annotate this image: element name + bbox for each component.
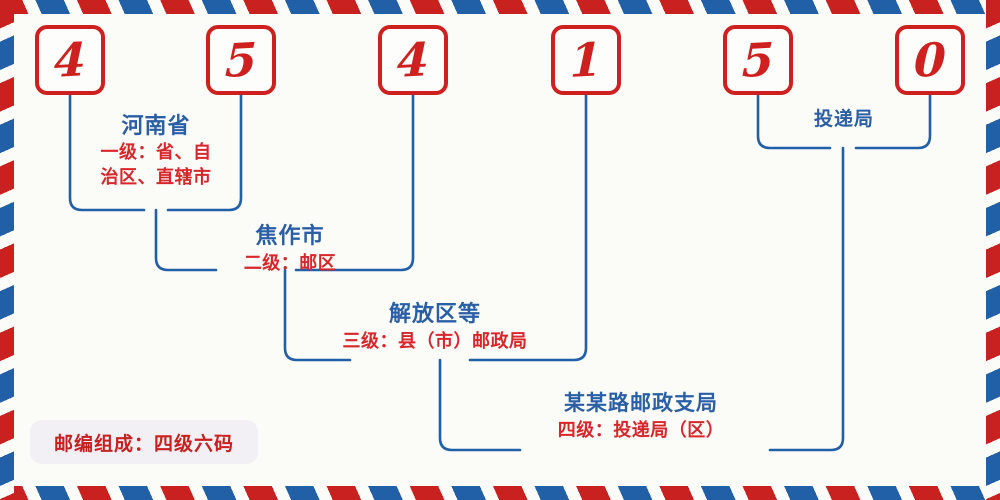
postcode-digit-value-4: 1 bbox=[570, 36, 603, 84]
level-1-label-group: 河南省 一级：省、自 治区、直辖市 bbox=[80, 112, 232, 190]
level-4-title: 某某路邮政支局 bbox=[455, 388, 827, 417]
postcode-diagram-canvas: 4 5 4 1 5 0 投递局 河南省 一级：省、自 治区、直辖市 焦作市 bbox=[0, 0, 1000, 500]
postcode-digit-value-2: 5 bbox=[225, 36, 258, 84]
level-1-title: 河南省 bbox=[80, 112, 232, 140]
postcode-composition-badge-text: 邮编组成：四级六码 bbox=[54, 429, 234, 456]
postcode-digit-value-1: 4 bbox=[54, 36, 87, 84]
level-2-label-group: 焦作市 二级：邮区 bbox=[170, 222, 410, 277]
level-4-subtitle-line-1: 四级：投递局（区） bbox=[455, 417, 827, 444]
postcode-digit-box-2[interactable]: 5 bbox=[206, 25, 276, 95]
postcode-digit-box-4[interactable]: 1 bbox=[551, 25, 621, 95]
postcode-composition-badge: 邮编组成：四级六码 bbox=[30, 420, 258, 464]
delivery-office-label-group: 投递局 bbox=[758, 104, 930, 131]
postcode-digit-value-6: 0 bbox=[914, 36, 947, 84]
postcode-digit-box-1[interactable]: 4 bbox=[35, 25, 105, 95]
delivery-office-label: 投递局 bbox=[758, 104, 930, 131]
level-2-subtitle-line-1: 二级：邮区 bbox=[170, 251, 410, 277]
level-1-subtitle-line-2: 治区、直辖市 bbox=[80, 165, 232, 190]
postcode-digit-value-3: 4 bbox=[397, 36, 430, 84]
level-3-title: 解放区等 bbox=[300, 300, 570, 329]
postcode-digit-value-5: 5 bbox=[742, 36, 775, 84]
level-1-subtitle-line-1: 一级：省、自 bbox=[80, 140, 232, 165]
level-3-label-group: 解放区等 三级：县（市）邮政局 bbox=[300, 300, 570, 355]
postcode-digit-box-3[interactable]: 4 bbox=[378, 25, 448, 95]
postcode-digit-box-5[interactable]: 5 bbox=[723, 25, 793, 95]
level-2-title: 焦作市 bbox=[170, 222, 410, 251]
level-4-label-group: 某某路邮政支局 四级：投递局（区） bbox=[455, 388, 827, 444]
postcode-digit-box-6[interactable]: 0 bbox=[895, 25, 965, 95]
level-3-subtitle-line-1: 三级：县（市）邮政局 bbox=[300, 329, 570, 355]
